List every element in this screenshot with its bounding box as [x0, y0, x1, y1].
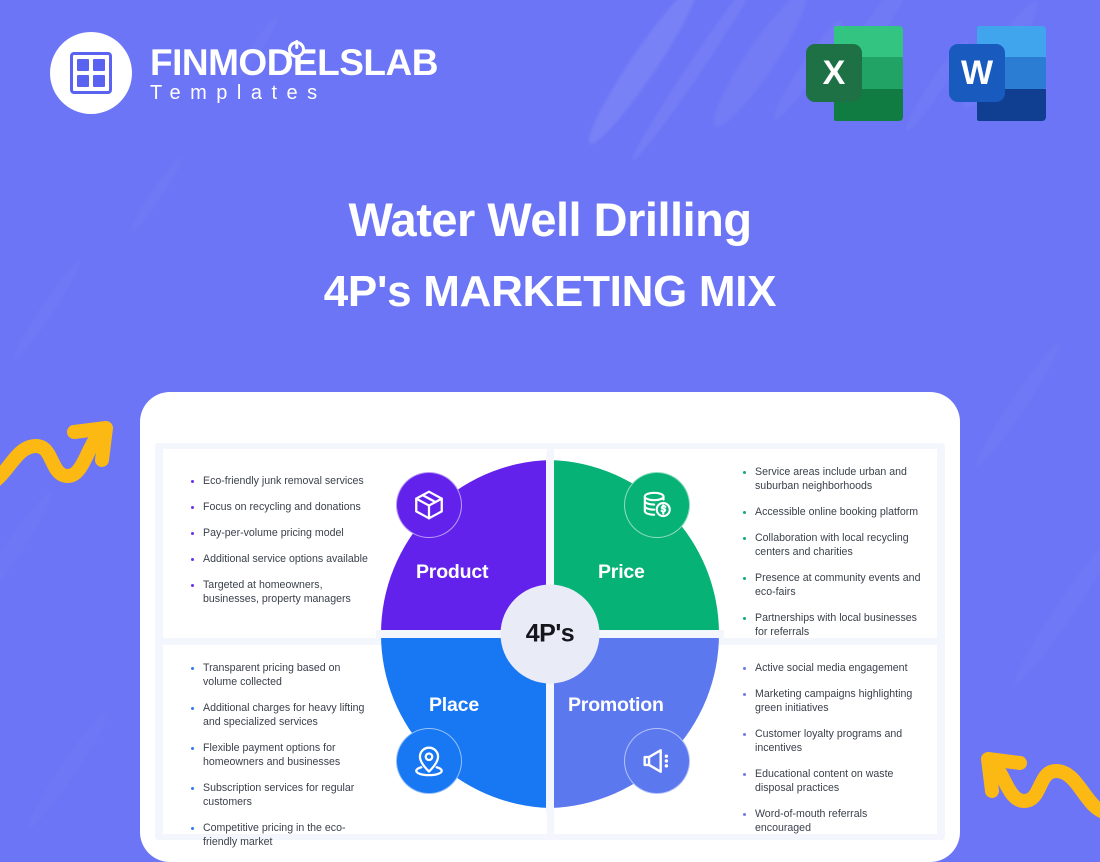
brand-text: FINMODELSLAB Templates: [150, 44, 438, 103]
word-letter: W: [961, 54, 993, 93]
office-format-icons: X W: [806, 26, 1046, 121]
four-ps-diagram: Product Price Place Promotion: [376, 454, 724, 814]
list-item: Transparent pricing based on volume coll…: [189, 662, 369, 690]
quadrant-label-place: Place: [429, 694, 479, 717]
diagram-center-hub: 4P's: [501, 585, 600, 684]
list-item: Flexible payment options for homeowners …: [189, 742, 369, 770]
list-item: Additional charges for heavy lifting and…: [189, 702, 369, 730]
page-title: Water Well Drilling 4P's MARKETING MIX: [0, 192, 1100, 318]
list-item: Educational content on waste disposal pr…: [741, 768, 926, 796]
grid-squares-icon: [70, 52, 112, 94]
list-item: Presence at community events and eco-fai…: [741, 572, 926, 600]
word-badge: W: [949, 44, 1005, 102]
promotion-bullet-list: Active social media engagement Marketing…: [741, 662, 926, 836]
title-line-1: Water Well Drilling: [0, 192, 1100, 247]
squiggle-arrow-down-left-icon: [976, 737, 1100, 842]
logo-circle: [50, 32, 132, 114]
list-item: Active social media engagement: [741, 662, 926, 676]
quadrant-label-promotion: Promotion: [568, 694, 664, 717]
excel-icon[interactable]: X: [806, 26, 903, 121]
list-item: Focus on recycling and donations: [189, 501, 374, 515]
location-pin-icon: [396, 728, 462, 794]
list-item: Subscription services for regular custom…: [189, 782, 369, 810]
coin-stack-dollar-icon: [624, 472, 690, 538]
quadrant-label-product: Product: [416, 561, 488, 584]
list-item: Eco-friendly junk removal services: [189, 475, 374, 489]
list-item: Competitive pricing in the eco-friendly …: [189, 822, 369, 850]
squiggle-arrow-up-right-icon: [0, 402, 118, 502]
brand-subtitle: Templates: [150, 83, 438, 103]
page-header: FINMODELSLAB Templates X W: [0, 0, 1100, 150]
list-item: Service areas include urban and suburban…: [741, 466, 926, 494]
product-bullet-list: Eco-friendly junk removal services Focus…: [189, 475, 374, 607]
list-item: Customer loyalty programs and incentives: [741, 728, 926, 756]
list-item: Accessible online booking platform: [741, 506, 926, 520]
power-o-icon: [288, 41, 305, 58]
title-line-2: 4P's MARKETING MIX: [0, 266, 1100, 318]
word-icon[interactable]: W: [949, 26, 1046, 121]
box-package-icon: [396, 472, 462, 538]
list-item: Partnerships with local businesses for r…: [741, 612, 926, 640]
brand-logo[interactable]: FINMODELSLAB Templates: [50, 32, 438, 114]
list-item: Word-of-mouth referrals encouraged: [741, 808, 926, 836]
list-item: Marketing campaigns highlighting green i…: [741, 688, 926, 716]
price-bullet-list: Service areas include urban and suburban…: [741, 466, 926, 640]
megaphone-icon: [624, 728, 690, 794]
excel-badge: X: [806, 44, 862, 102]
list-item: Additional service options available: [189, 553, 374, 567]
list-item: Pay-per-volume pricing model: [189, 527, 374, 541]
excel-letter: X: [823, 54, 846, 93]
place-bullet-list: Transparent pricing based on volume coll…: [189, 662, 369, 850]
list-item: Targeted at homeowners, businesses, prop…: [189, 579, 374, 607]
list-item: Collaboration with local recycling cente…: [741, 532, 926, 560]
brand-name: FINMODELSLAB: [150, 44, 438, 81]
quadrant-label-price: Price: [598, 561, 645, 584]
